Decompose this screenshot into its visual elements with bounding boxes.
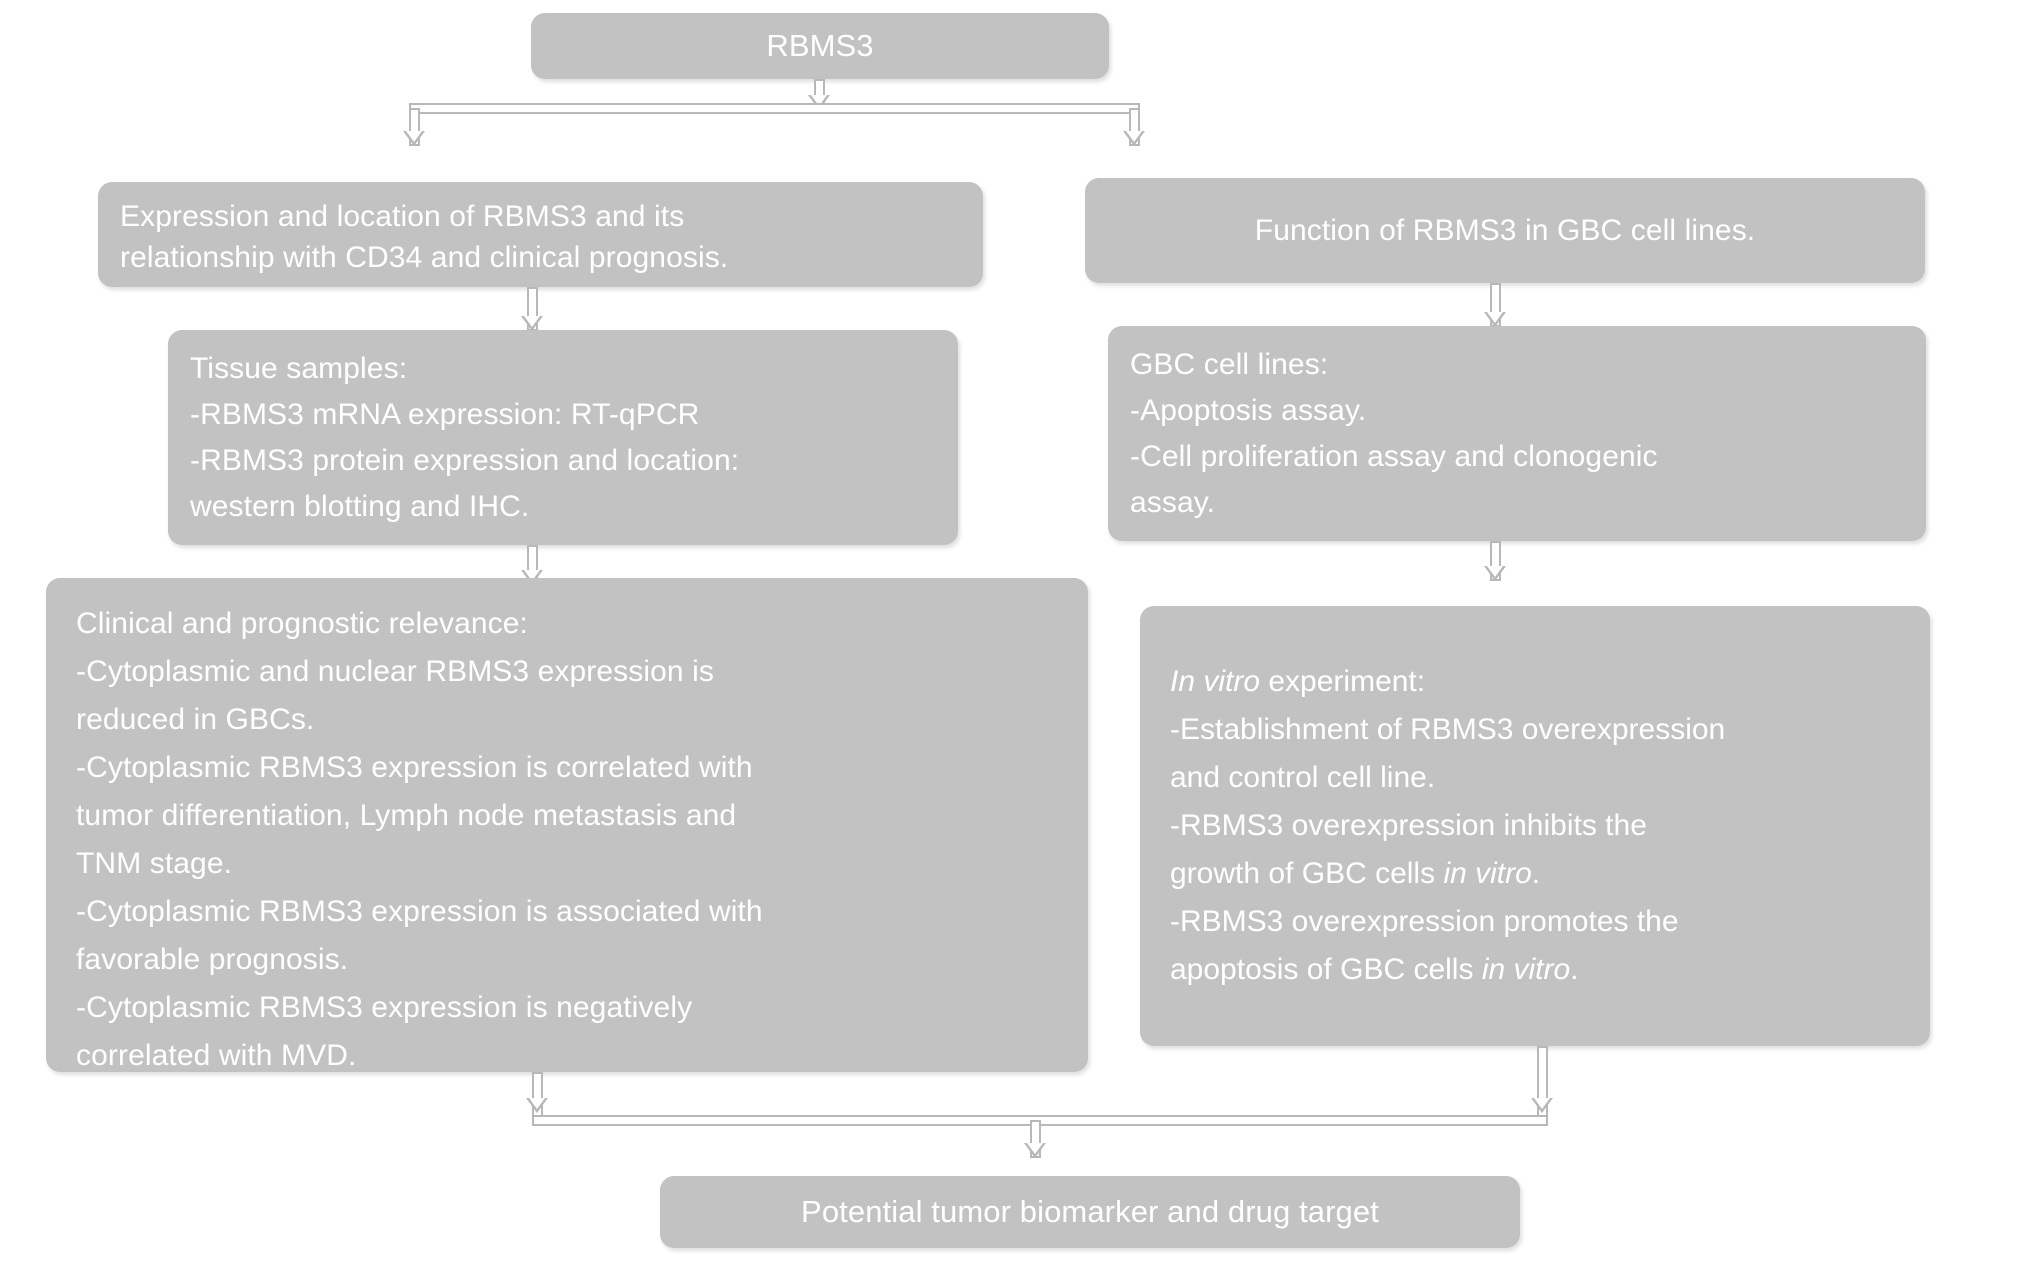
node-function-gbc-label: Function of RBMS3 in GBC cell lines. [1255,214,1755,248]
node-tissue-samples-label: Tissue samples: -RBMS3 mRNA expression: … [190,346,936,530]
node-potential-biomarker-label: Potential tumor biomarker and drug targe… [801,1194,1379,1230]
node-clinical-prognostic-relevance-label: Clinical and prognostic relevance: -Cyto… [76,600,1062,1080]
arrowhead-in-vitro-inner [1487,566,1503,577]
in-vitro-line-4: -RBMS3 overexpression inhibits the [1170,802,1906,850]
in-vitro-line-3: and control cell line. [1170,754,1906,802]
in-vitro-line-2: -Establishment of RBMS3 overexpression [1170,706,1906,754]
arrowhead-conclusion-inner [1027,1143,1043,1154]
node-expression-location-label: Expression and location of RBMS3 and its… [120,196,961,278]
in-vitro-line-6: -RBMS3 overexpression promotes the [1170,898,1906,946]
in-vitro-pre-5: growth of GBC cells [1170,857,1443,890]
node-clinical-prognostic-relevance: Clinical and prognostic relevance: -Cyto… [46,578,1088,1072]
node-tissue-samples: Tissue samples: -RBMS3 mRNA expression: … [168,330,958,545]
node-potential-biomarker: Potential tumor biomarker and drug targe… [660,1176,1520,1248]
in-vitro-post-5: . [1532,857,1540,890]
node-rbms3: RBMS3 [531,13,1109,79]
in-vitro-pre-7: apoptosis of GBC cells [1170,953,1482,986]
in-vitro-post-7: . [1570,953,1578,986]
node-in-vitro-experiment: In vitro experiment: -Establishment of R… [1140,606,1930,1046]
in-vitro-line-7: apoptosis of GBC cells in vitro. [1170,946,1906,994]
arrowhead-tissue-samples-inner [524,316,540,327]
in-vitro-line-1: In vitro experiment: [1170,658,1906,706]
in-vitro-italic-1: In vitro [1170,665,1260,698]
node-gbc-cell-lines: GBC cell lines: -Apoptosis assay. -Cell … [1108,326,1926,541]
arrowhead-gbc-cell-lines-inner [1487,312,1503,323]
in-vitro-italic-5: in vitro [1443,857,1531,890]
node-gbc-cell-lines-label: GBC cell lines: -Apoptosis assay. -Cell … [1130,342,1904,526]
arrowhead-left-merge-inner [529,1098,545,1109]
arrowhead-right-merge-inner [1534,1098,1550,1109]
in-vitro-line-5: growth of GBC cells in vitro. [1170,850,1906,898]
node-function-gbc: Function of RBMS3 in GBC cell lines. [1085,178,1925,283]
connector-split-bar [409,103,1140,114]
in-vitro-rest-1: experiment: [1260,665,1425,698]
node-expression-location: Expression and location of RBMS3 and its… [98,182,983,287]
flowchart-canvas: RBMS3 Expression and location of RBMS3 a… [0,0,2031,1270]
node-rbms3-label: RBMS3 [766,28,873,64]
arrowhead-right-branch-inner [1126,131,1142,142]
in-vitro-italic-7: in vitro [1482,953,1570,986]
arrowhead-left-branch-inner [406,131,422,142]
